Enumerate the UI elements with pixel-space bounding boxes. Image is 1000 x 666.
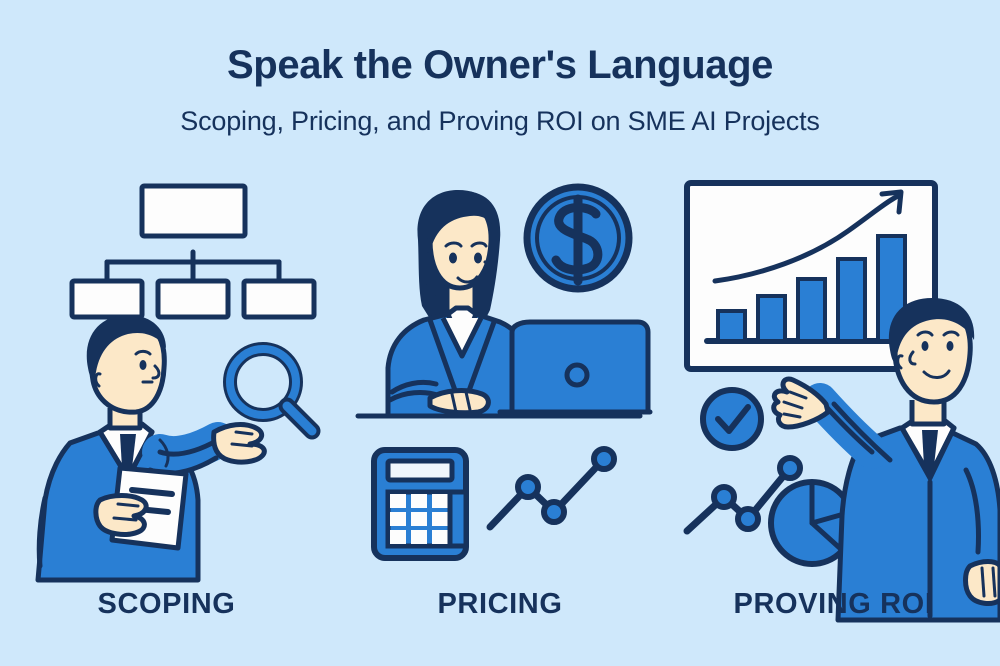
- dollar-coin-icon: [527, 187, 629, 289]
- businessman-with-clipboard-illustration: [38, 315, 264, 580]
- pricing-line-chart-icon: [490, 449, 614, 527]
- magnifier-icon: [230, 349, 312, 431]
- panel-label-scoping: SCOPING: [0, 588, 333, 621]
- panel-label-pricing: PRICING: [333, 588, 667, 621]
- calculator-icon: [374, 450, 466, 558]
- bar-3: [798, 279, 825, 341]
- org-chart-icon: [72, 186, 314, 317]
- illustration-artboard: .nv{fill:none;stroke:#16325c;stroke-widt…: [0, 0, 1000, 666]
- checkmark-circle-icon: [703, 390, 761, 448]
- bar-1: [718, 311, 745, 341]
- panel-label-proving-roi: PROVING ROI: [667, 588, 1000, 621]
- bar-4: [838, 259, 865, 341]
- bar-2: [758, 296, 785, 341]
- poster-canvas: Speak the Owner's Language Scoping, Pric…: [0, 0, 1000, 666]
